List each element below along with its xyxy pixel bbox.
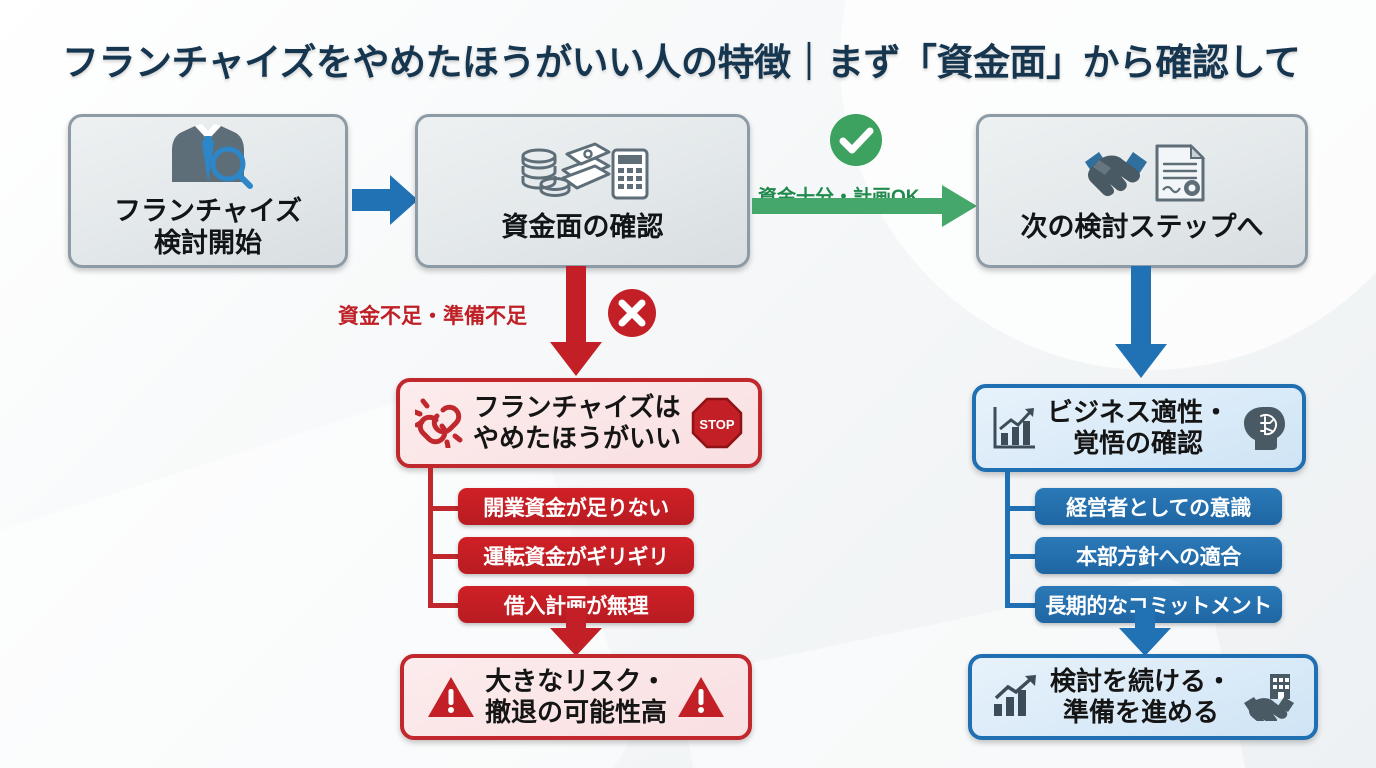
node-next-step-label: 次の検討ステップへ <box>1021 212 1264 244</box>
connector-blue-branch-3 <box>1005 603 1037 608</box>
money-calculator-icon <box>517 140 649 206</box>
list-item-blue-1[interactable]: 経営者としての意識 <box>1035 488 1282 525</box>
node-business-aptitude-label: ビジネス適性・ 覚悟の確認 <box>1047 397 1229 459</box>
connector-red-trunk <box>428 468 433 608</box>
diagram-canvas: フランチャイズをやめたほうがいい人の特徴｜まず「資金面」から確認して フランチャ… <box>0 0 1376 768</box>
building-handshake-icon <box>1242 673 1296 721</box>
stop-sign-icon: STOP <box>691 397 743 449</box>
list-item-red-2[interactable]: 運転資金がギリギリ <box>458 537 694 574</box>
node-continue-preparation-label: 検討を続ける・ 準備を進める <box>1050 666 1232 728</box>
check-circle-icon <box>828 112 884 173</box>
node-continue-preparation[interactable]: 検討を続ける・ 準備を進める <box>968 654 1318 740</box>
arrow-next-step-to-aptitude <box>1113 266 1169 378</box>
edge-label-funding-ng: 資金不足・準備不足 <box>338 300 527 330</box>
node-business-aptitude[interactable]: ビジネス適性・ 覚悟の確認 <box>972 384 1306 472</box>
suit-icon <box>162 124 254 190</box>
arrow-start-to-check <box>352 172 418 228</box>
arrow-check-to-quit <box>548 266 604 376</box>
node-quit-franchise-label: フランチャイズは やめたほうがいい <box>473 392 681 454</box>
list-item-red-1[interactable]: 開業資金が足りない <box>458 488 694 525</box>
page-title: フランチャイズをやめたほうがいい人の特徴｜まず「資金面」から確認して <box>62 32 1332 86</box>
connector-red-branch-2 <box>428 554 460 559</box>
node-next-step[interactable]: 次の検討ステップへ <box>976 114 1308 268</box>
connector-red-branch-3 <box>428 603 460 608</box>
node-quit-franchise[interactable]: フランチャイズは やめたほうがいい STOP <box>396 378 762 468</box>
connector-blue-branch-1 <box>1005 506 1037 511</box>
node-franchise-start[interactable]: フランチャイズ 検討開始 <box>68 114 348 268</box>
node-high-risk-result-label: 大きなリスク・ 撤退の可能性高 <box>485 666 667 728</box>
funding-icon-group <box>517 138 649 208</box>
handshake-contract-icon <box>1077 140 1207 206</box>
broken-link-icon <box>415 398 463 448</box>
connector-blue-branch-2 <box>1005 554 1037 559</box>
list-item-blue-2[interactable]: 本部方針への適合 <box>1035 537 1282 574</box>
start-icon-group <box>162 122 254 192</box>
next-step-icon-group <box>1077 138 1207 208</box>
bar-chart-growth-icon-result <box>990 674 1040 720</box>
head-brain-icon <box>1239 404 1287 452</box>
bar-chart-growth-icon <box>991 405 1037 451</box>
connector-red-branch-1 <box>428 506 460 511</box>
arrow-check-to-next-step <box>752 184 977 228</box>
arrow-blue-to-result <box>1117 608 1173 656</box>
warning-triangle-icon <box>427 675 475 719</box>
node-funding-check-label: 資金面の確認 <box>502 212 664 244</box>
arrow-red-to-result <box>548 608 604 656</box>
svg-text:STOP: STOP <box>699 417 734 432</box>
node-funding-check[interactable]: 資金面の確認 <box>415 114 750 268</box>
warning-triangle-icon-right <box>677 675 725 719</box>
node-high-risk-result[interactable]: 大きなリスク・ 撤退の可能性高 <box>400 654 752 740</box>
connector-blue-trunk <box>1005 472 1010 608</box>
node-franchise-start-label: フランチャイズ 検討開始 <box>114 196 302 260</box>
x-circle-icon <box>607 288 657 343</box>
